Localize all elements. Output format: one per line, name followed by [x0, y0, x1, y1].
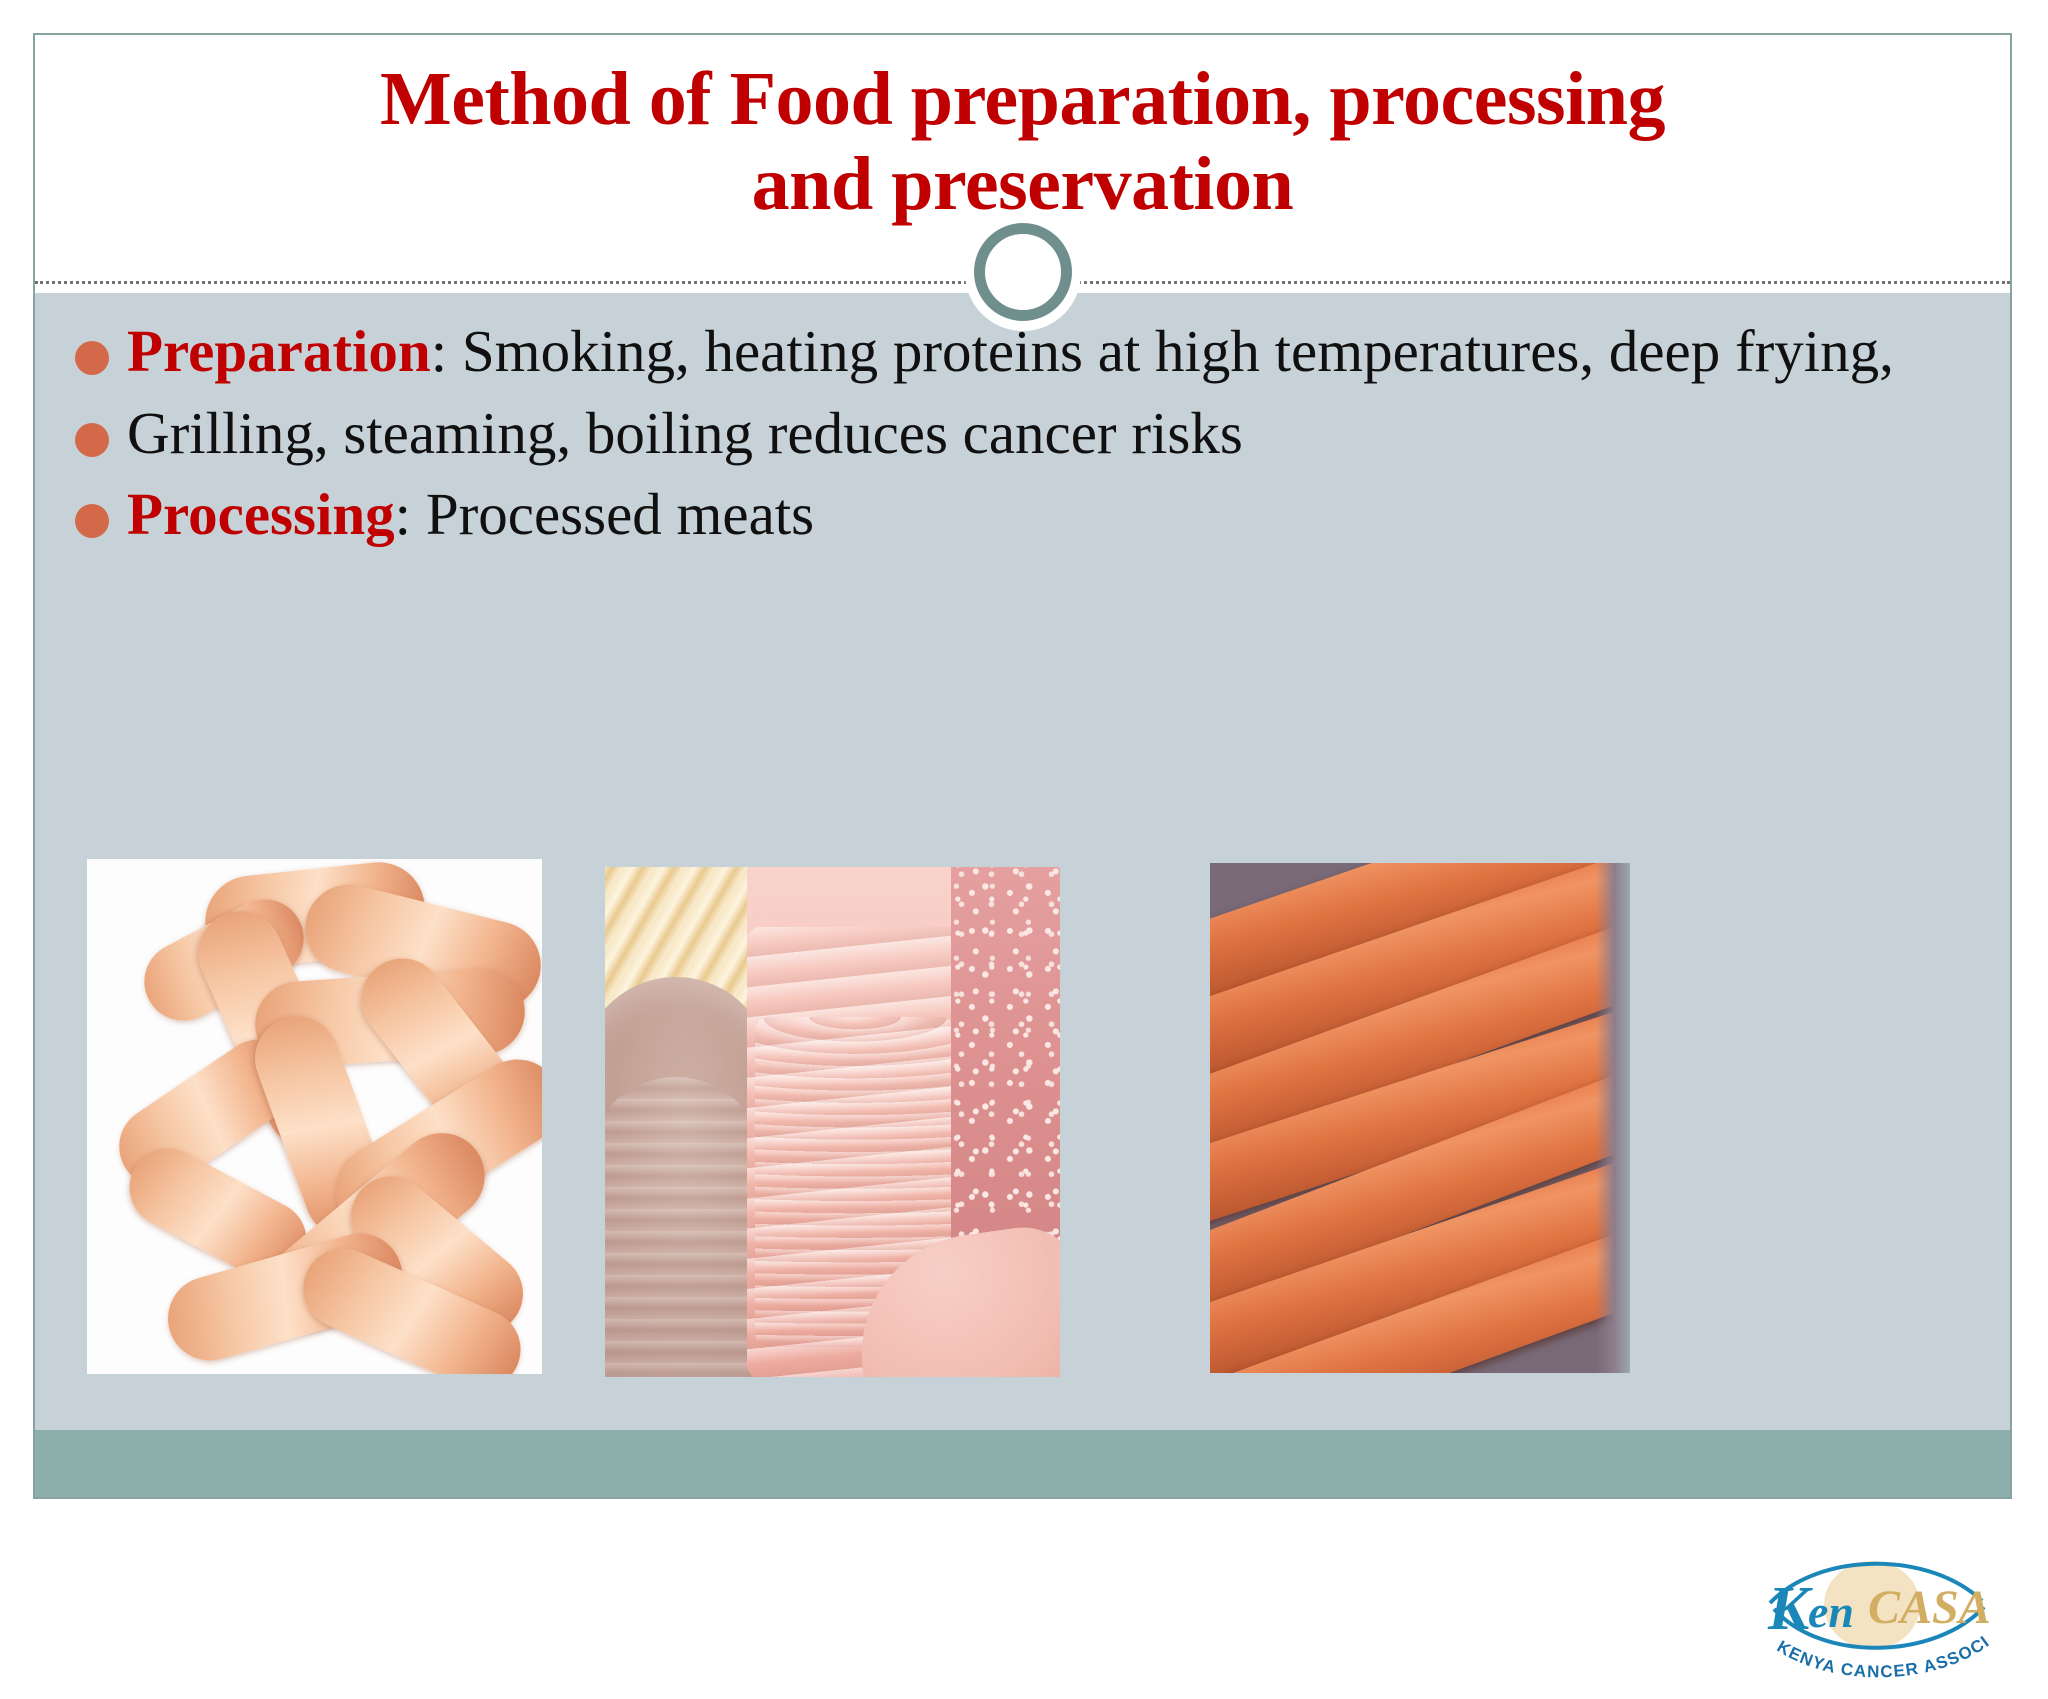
kencasa-logo-icon: K en CASA KENYA CANCER ASSOCIATION: [1760, 1547, 2000, 1699]
list-item: Processing: Processed meats: [67, 480, 1947, 550]
sausages-photo: [1210, 863, 1630, 1373]
bullet-dot-icon: [75, 423, 109, 457]
slide-body-panel: Preparation: Smoking, heating proteins a…: [35, 293, 2010, 1430]
image-strip: [35, 853, 2010, 1393]
bullet-text: Processed meats: [426, 481, 814, 547]
bullet-dot-icon: [75, 504, 109, 538]
footer-accent-bar: [35, 1430, 2010, 1497]
bullet-label-preparation: Preparation: [127, 318, 431, 384]
bullet-label-processing: Processing: [127, 481, 395, 547]
hot-dogs-photo: [87, 859, 542, 1374]
page-title: Method of Food preparation, processing a…: [75, 57, 1970, 227]
svg-text:K: K: [1767, 1575, 1813, 1643]
circle-ornament-icon: [974, 223, 1072, 321]
bullet-dot-icon: [75, 341, 109, 375]
deli-meats-photo: [605, 867, 1060, 1377]
svg-text:en: en: [1808, 1586, 1854, 1637]
bullet-list: Preparation: Smoking, heating proteins a…: [67, 317, 1947, 562]
bullet-text: Smoking, heating proteins at high temper…: [462, 318, 1894, 384]
presentation-slide: Method of Food preparation, processing a…: [33, 33, 2012, 1499]
bullet-text: Grilling, steaming, boiling reduces canc…: [127, 400, 1243, 466]
title-line-1: Method of Food preparation, processing: [75, 57, 1970, 142]
svg-text:CASA: CASA: [1868, 1581, 1991, 1634]
list-item: Grilling, steaming, boiling reduces canc…: [67, 399, 1947, 469]
kencasa-logo: K en CASA KENYA CANCER ASSOCIATION: [1760, 1547, 2000, 1699]
bullet-separator: :: [395, 481, 426, 547]
bullet-separator: :: [431, 318, 462, 384]
